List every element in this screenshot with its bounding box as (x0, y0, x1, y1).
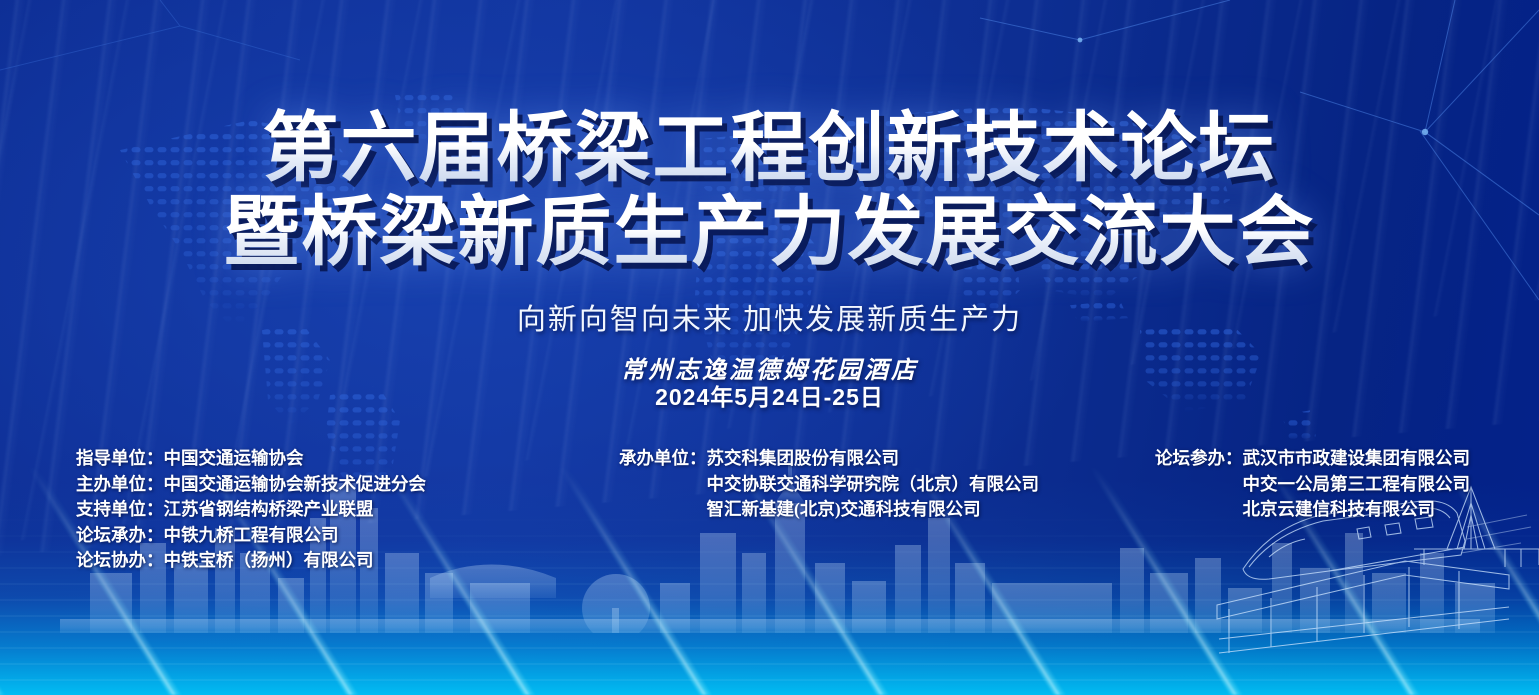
organizer-row: 论坛参办：中交一公局第三工程有限公司 (1155, 472, 1470, 498)
organizer-value: 智汇新基建(北京)交通科技有限公司 (707, 497, 981, 523)
organizer-value: 江苏省钢结构桥梁产业联盟 (164, 497, 374, 523)
organizer-value: 苏交科集团股份有限公司 (707, 446, 900, 472)
event-dates: 2024年5月24日-25日 (0, 378, 1539, 412)
title-line-1: 第六届桥梁工程创新技术论坛 (0, 106, 1539, 190)
conference-banner: 第六届桥梁工程创新技术论坛 暨桥梁新质生产力发展交流大会 向新向智向未来 加快发… (0, 0, 1539, 695)
organizer-value: 中国交通运输协会 (164, 446, 304, 472)
organizer-value: 中国交通运输协会新技术促进分会 (164, 472, 427, 498)
organizer-label: 支持单位： (76, 497, 164, 523)
organizer-column-left: 指导单位：中国交通运输协会 主办单位：中国交通运输协会新技术促进分会 支持单位：… (76, 446, 426, 574)
organizer-label: 论坛协办： (76, 548, 164, 574)
title-line-2: 暨桥梁新质生产力发展交流大会 (0, 190, 1539, 274)
organizer-value: 中交一公局第三工程有限公司 (1243, 472, 1471, 498)
organizer-row: 论坛协办：中铁宝桥（扬州）有限公司 (76, 548, 426, 574)
organizer-row: 主办单位：中国交通运输协会新技术促进分会 (76, 472, 426, 498)
organizer-value: 北京云建信科技有限公司 (1243, 497, 1436, 523)
organizer-row: 论坛承办：中铁九桥工程有限公司 (76, 523, 426, 549)
organizer-value: 中铁宝桥（扬州）有限公司 (164, 548, 374, 574)
organizer-label: 论坛承办： (76, 523, 164, 549)
organizer-row: 承办单位：智汇新基建(北京)交通科技有限公司 (619, 497, 1039, 523)
organizer-value: 武汉市市政建设集团有限公司 (1243, 446, 1471, 472)
title-block: 第六届桥梁工程创新技术论坛 暨桥梁新质生产力发展交流大会 (0, 106, 1539, 274)
organizer-label: 承办单位： (619, 446, 707, 472)
organizer-label: 主办单位： (76, 472, 164, 498)
organizer-column-center: 承办单位：苏交科集团股份有限公司 承办单位：中交协联交通科学研究院（北京）有限公… (619, 446, 1039, 523)
organizer-label: 论坛参办： (1155, 446, 1243, 472)
organizer-value: 中交协联交通科学研究院（北京）有限公司 (707, 472, 1040, 498)
organizer-label: 指导单位： (76, 446, 164, 472)
organizer-section: 指导单位：中国交通运输协会 主办单位：中国交通运输协会新技术促进分会 支持单位：… (0, 446, 1539, 566)
organizer-row: 论坛参办：武汉市市政建设集团有限公司 (1155, 446, 1470, 472)
organizer-row: 承办单位：苏交科集团股份有限公司 (619, 446, 1039, 472)
organizer-value: 中铁九桥工程有限公司 (164, 523, 339, 549)
organizer-row: 指导单位：中国交通运输协会 (76, 446, 426, 472)
organizer-row: 支持单位：江苏省钢结构桥梁产业联盟 (76, 497, 426, 523)
subtitle: 向新向智向未来 加快发展新质生产力 (0, 296, 1539, 338)
organizer-row: 承办单位：中交协联交通科学研究院（北京）有限公司 (619, 472, 1039, 498)
organizer-column-right: 论坛参办：武汉市市政建设集团有限公司 论坛参办：中交一公局第三工程有限公司 论坛… (1155, 446, 1470, 523)
organizer-row: 论坛参办：北京云建信科技有限公司 (1155, 497, 1470, 523)
